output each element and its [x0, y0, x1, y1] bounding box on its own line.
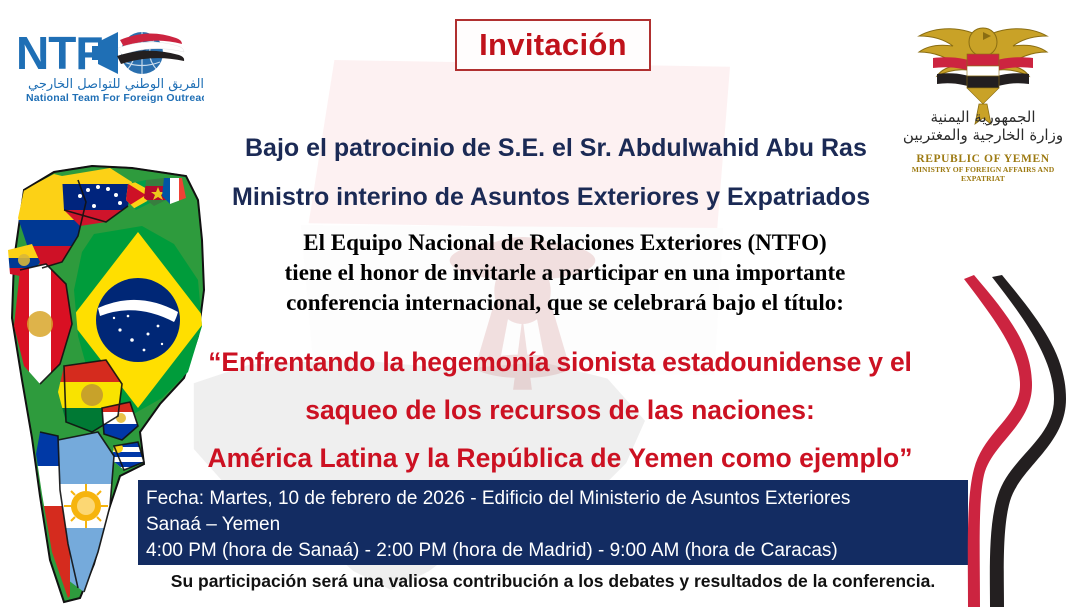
event-times: 4:00 PM (hora de Sanaá) - 2:00 PM (hora …: [146, 538, 968, 564]
invitation-body-paragraph: El Equipo Nacional de Relaciones Exterio…: [225, 228, 905, 318]
invitation-title-badge: Invitación: [455, 19, 651, 71]
svg-text:NTF: NTF: [16, 27, 102, 79]
body-line-2: tiene el honor de invitarle a participar…: [225, 258, 905, 288]
ntfo-tagline: National Team For Foreign Outreach: [26, 92, 204, 104]
conference-title-line-3: América Latina y la República de Yemen c…: [140, 434, 980, 482]
ntfo-arabic-name: الفريق الوطني للتواصل الخارجي: [28, 77, 204, 92]
yemen-ministry-emblem: الجمهورية اليمنية وزارة الخارجية والمغتر…: [893, 12, 1073, 202]
ntfo-logo: NTF الفريق الوطني للتواصل الخارجي Natio: [14, 24, 204, 106]
invitation-poster: NTF الفريق الوطني للتواصل الخارجي Natio: [0, 0, 1080, 607]
yemen-golden-eagle-emblem-icon: الجمهورية اليمنية وزارة الخارجية والمغتر…: [893, 12, 1073, 147]
patronage-line-2: Ministro interino de Asuntos Exteriores …: [232, 183, 892, 212]
body-line-3: conferencia internacional, que se celebr…: [225, 288, 905, 318]
closing-note: Su participación será una valiosa contri…: [138, 571, 968, 592]
conference-title-line-1: “Enfrentando la hegemonía sionista estad…: [140, 338, 980, 386]
conference-title-line-2: saqueo de los recursos de las naciones:: [140, 386, 980, 434]
patronage-line-1: Bajo el patrocinio de S.E. el Sr. Abdulw…: [245, 134, 885, 163]
emblem-arabic-line1: الجمهورية اليمنية: [930, 108, 1035, 126]
emblem-arabic-line2: وزارة الخارجية والمغتربين: [903, 126, 1063, 144]
event-city: Sanaá – Yemen: [146, 512, 968, 538]
yemen-flag-ribbon: [962, 275, 1080, 607]
invitation-title-text: Invitación: [479, 27, 627, 63]
event-date-venue: Fecha: Martes, 10 de febrero de 2026 - E…: [146, 486, 968, 512]
south-america-flag-map: [2, 140, 217, 607]
body-line-1: El Equipo Nacional de Relaciones Exterio…: [225, 228, 905, 258]
emblem-english-line1: REPUBLIC OF YEMEN: [893, 153, 1073, 165]
event-details-box: Fecha: Martes, 10 de febrero de 2026 - E…: [138, 480, 968, 565]
emblem-english-line2: MINISTRY OF FOREIGN AFFAIRS AND EXPATRIA…: [893, 165, 1073, 183]
conference-title: “Enfrentando la hegemonía sionista estad…: [140, 338, 980, 482]
